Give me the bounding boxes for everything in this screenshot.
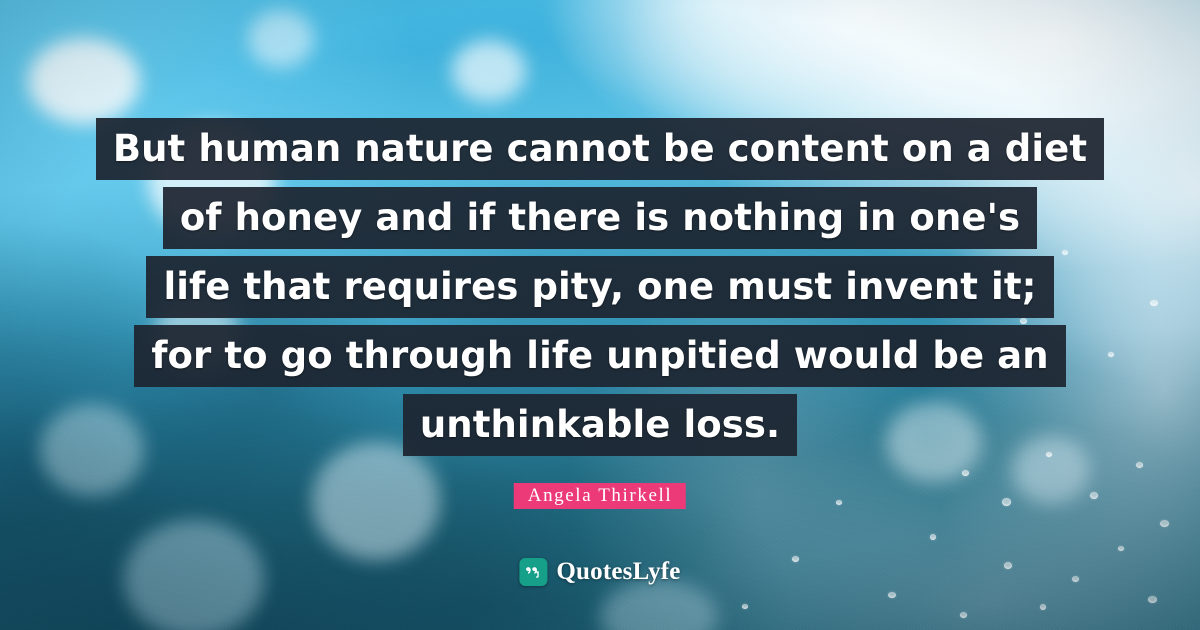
quote-line: But human nature cannot be content on a … <box>96 118 1104 180</box>
water-droplet <box>1160 520 1169 527</box>
quote-card: But human nature cannot be content on a … <box>0 0 1200 630</box>
bubble-blur <box>312 442 440 560</box>
quote-mark-icon <box>519 558 547 586</box>
bubble-blur <box>124 520 264 630</box>
water-droplet <box>930 534 936 540</box>
water-droplet <box>1072 576 1079 582</box>
brand-logo[interactable]: QuotesLyfe <box>519 558 680 586</box>
water-droplet <box>1118 546 1124 551</box>
quote-line: for to go through life unpitied would be… <box>134 325 1065 387</box>
bubble-blur <box>452 40 526 102</box>
water-droplet <box>1004 562 1012 569</box>
water-droplet <box>836 500 842 505</box>
water-droplet <box>888 592 896 598</box>
author-name-badge: Angela Thirkell <box>514 483 686 509</box>
water-droplet <box>960 612 967 618</box>
brand-name: QuotesLyfe <box>556 558 680 586</box>
quote-line: unthinkable loss. <box>403 394 797 456</box>
quote-line: of honey and if there is nothing in one'… <box>163 187 1037 249</box>
bubble-blur <box>600 580 718 630</box>
water-droplet <box>1002 498 1011 506</box>
water-droplet <box>742 604 748 609</box>
water-droplet <box>962 470 969 476</box>
water-droplet <box>1148 596 1157 603</box>
water-droplet <box>792 556 799 562</box>
bubble-blur <box>248 10 314 68</box>
quote-text-block: But human nature cannot be content on a … <box>0 118 1200 456</box>
water-droplet <box>1090 492 1098 499</box>
water-droplet <box>1136 462 1143 468</box>
water-droplet <box>1040 604 1046 610</box>
quote-line: life that requires pity, one must invent… <box>146 256 1053 318</box>
bubble-blur <box>28 38 140 124</box>
